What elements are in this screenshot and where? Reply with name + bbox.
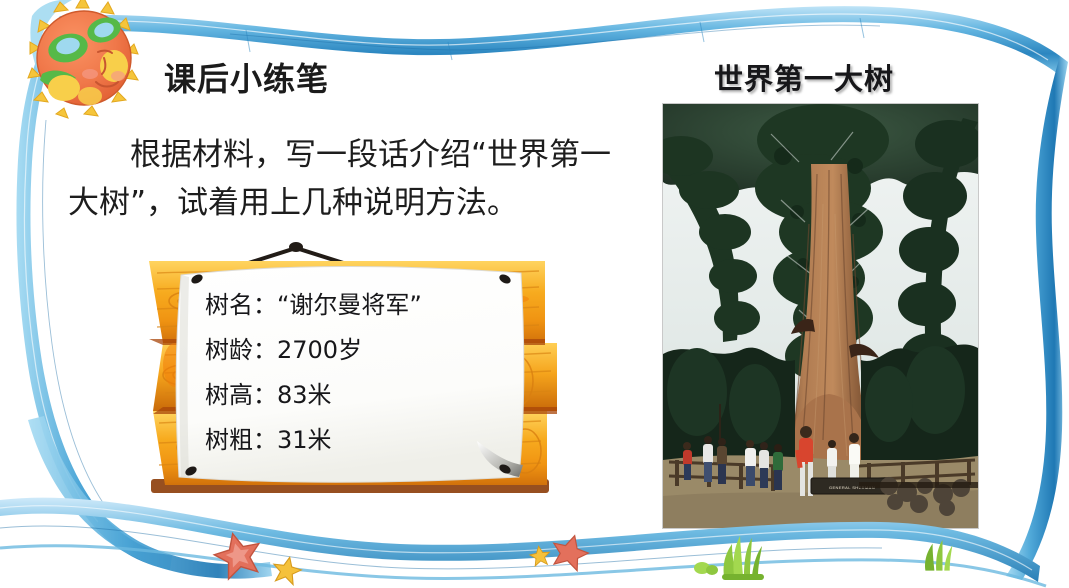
wooden-sign: 树名：“谢尔曼将军” 树龄：2700岁 树高：83米 树粗：31米 — [145, 245, 555, 505]
sequoia-photo: GENERAL SHERMAN — [663, 104, 978, 528]
sign-row-value: “谢尔曼将军” — [277, 291, 422, 319]
sign-row-label: 树高： — [205, 381, 277, 409]
sign-row-value: 31米 — [277, 426, 332, 454]
page-title-right: 世界第一大树 — [714, 56, 894, 98]
starfish-decor — [210, 528, 592, 586]
photo-illustration: GENERAL SHERMAN — [663, 104, 978, 528]
paragraph-line-1-text: 根据材料，写一段话介绍“世界第一 — [130, 137, 611, 173]
small-star-icon — [271, 554, 304, 585]
slide-canvas: GENERAL SHERMAN — [0, 0, 1069, 588]
sign-row-value: 83米 — [277, 381, 332, 409]
page-title-left: 课后小练笔 — [164, 54, 329, 100]
right-ribbon — [1004, 56, 1068, 580]
body-paragraph: 根据材料，写一段话介绍“世界第一 大树”，试着用上几种说明方法。 — [68, 131, 668, 227]
orange-planet-mascot — [26, 0, 144, 116]
grass-decor — [694, 536, 952, 580]
sign-row: 树粗：31米 — [205, 418, 525, 463]
sign-row: 树龄：2700岁 — [205, 328, 525, 373]
sign-row: 树名：“谢尔曼将军” — [205, 283, 525, 328]
sign-row: 树高：83米 — [205, 373, 525, 418]
mascot-graphic — [26, 0, 144, 120]
small-star-icon — [529, 545, 551, 567]
sign-row-value: 2700岁 — [277, 336, 362, 364]
paragraph-line-1: 根据材料，写一段话介绍“世界第一 — [68, 131, 668, 179]
sign-row-label: 树龄： — [205, 336, 277, 364]
sign-text-block: 树名：“谢尔曼将军” 树龄：2700岁 树高：83米 树粗：31米 — [205, 283, 525, 463]
sign-row-label: 树名： — [205, 291, 277, 319]
sign-row-label: 树粗： — [205, 426, 277, 454]
paragraph-line-2: 大树”，试着用上几种说明方法。 — [68, 179, 668, 227]
starfish-icon — [548, 531, 592, 573]
